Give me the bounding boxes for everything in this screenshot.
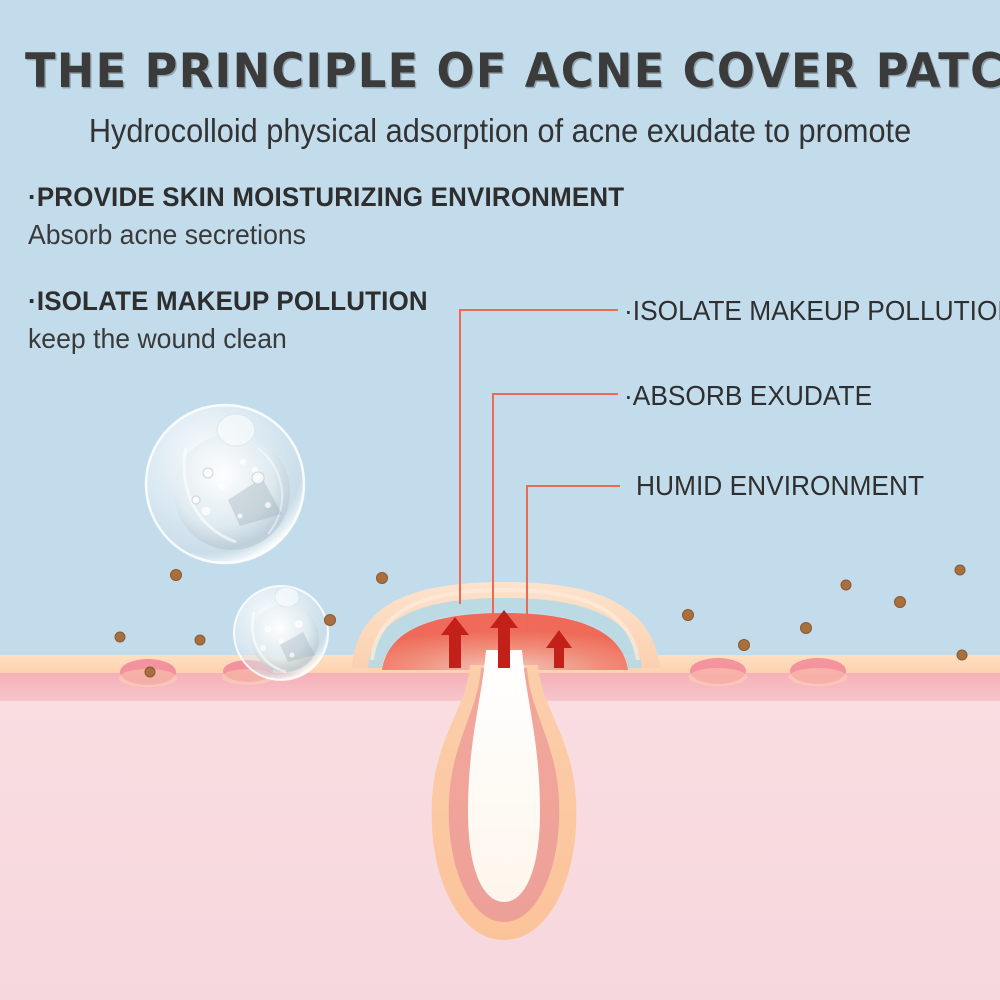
particle: [957, 650, 967, 660]
benefit-item-2: ·ISOLATE MAKEUP POLLUTION keep the wound…: [28, 286, 445, 355]
droplet-large: [146, 405, 304, 563]
particle: [955, 565, 965, 575]
particle: [739, 640, 750, 651]
particle: [895, 597, 906, 608]
callout-label-absorb-exudate: ·ABSORB EXUDATE: [624, 380, 872, 412]
particle: [841, 580, 851, 590]
particle: [115, 632, 125, 642]
benefit-1-heading: ·PROVIDE SKIN MOISTURIZING ENVIRONMENT: [28, 182, 624, 213]
leader-line-isolate-makeup-pollution: [460, 310, 618, 604]
particle: [801, 623, 812, 634]
benefit-1-description: Absorb acne secretions: [28, 219, 618, 251]
callout-label-humid-environment: HUMID ENVIRONMENT: [636, 470, 924, 502]
benefit-item-1: ·PROVIDE SKIN MOISTURIZING ENVIRONMENT A…: [28, 182, 649, 251]
particle: [325, 615, 336, 626]
benefit-2-heading: ·ISOLATE MAKEUP POLLUTION: [28, 286, 428, 317]
particle: [171, 570, 182, 581]
callout-label-isolate-makeup-pollution: ·ISOLATE MAKEUP POLLUTION: [624, 295, 1000, 327]
particle: [145, 667, 155, 677]
page-subtitle: Hydrocolloid physical adsorption of acne…: [35, 112, 965, 150]
hydrocolloid-droplets: [146, 405, 328, 680]
particle: [195, 635, 205, 645]
particle: [377, 573, 388, 584]
page-title: THE PRINCIPLE OF ACNE COVER PATCH: [25, 44, 975, 99]
benefit-2-description: keep the wound clean: [28, 323, 424, 355]
droplet-small: [234, 586, 328, 680]
infographic-canvas: THE PRINCIPLE OF ACNE COVER PATCH Hydroc…: [0, 0, 1000, 1000]
particle: [683, 610, 694, 621]
